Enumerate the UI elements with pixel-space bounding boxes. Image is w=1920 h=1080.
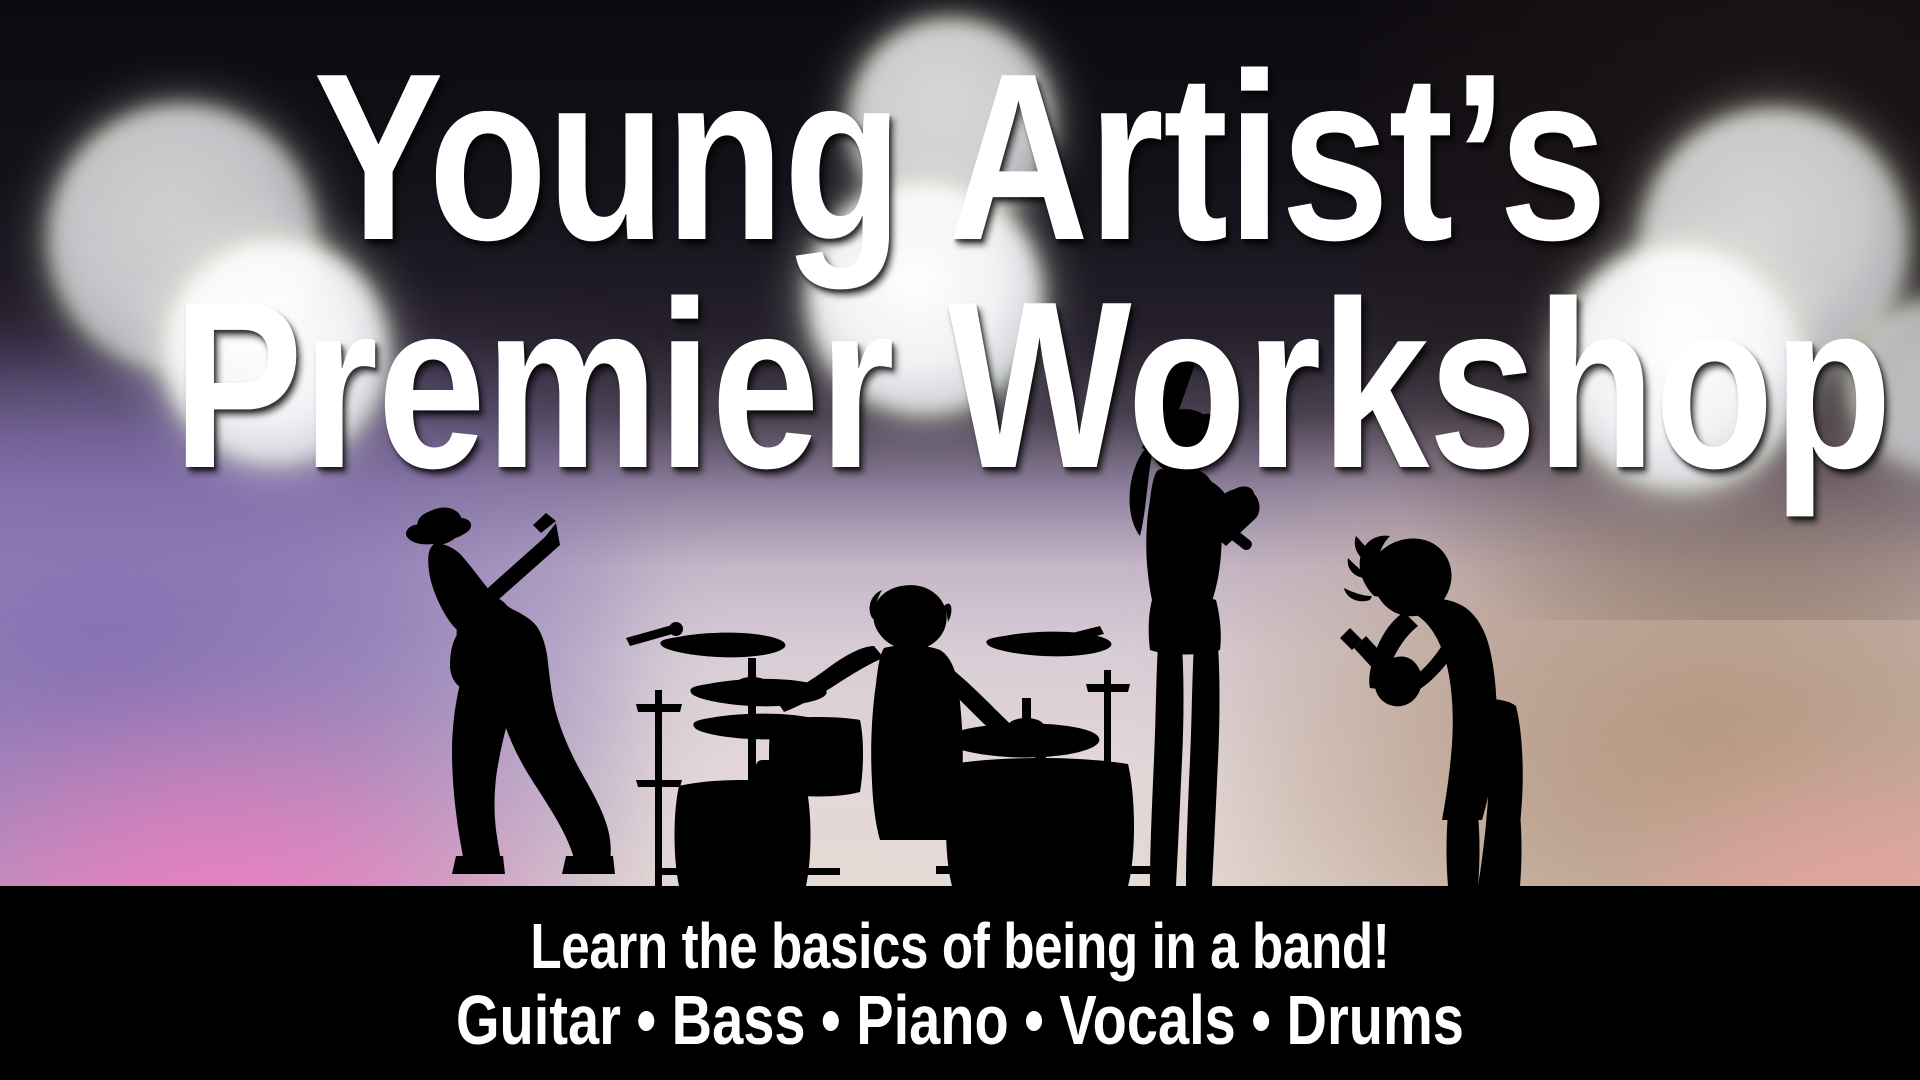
salmon-light-glow xyxy=(1620,760,1920,886)
pink-light-glow xyxy=(0,700,560,886)
footer-instruments: Guitar • Bass • Piano • Vocals • Drums xyxy=(456,985,1464,1056)
footer-tagline: Learn the basics of being in a band! xyxy=(531,914,1390,979)
poster-title: Young Artist’s Premier Workshop xyxy=(0,46,1920,497)
title-line-2: Premier Workshop xyxy=(173,274,1747,498)
footer-bar: Learn the basics of being in a band! Gui… xyxy=(0,886,1920,1080)
poster-canvas: Young Artist’s Premier Workshop Learn th… xyxy=(0,0,1920,1080)
stage-photo-background: Young Artist’s Premier Workshop xyxy=(0,0,1920,886)
title-line-1: Young Artist’s xyxy=(173,46,1747,270)
